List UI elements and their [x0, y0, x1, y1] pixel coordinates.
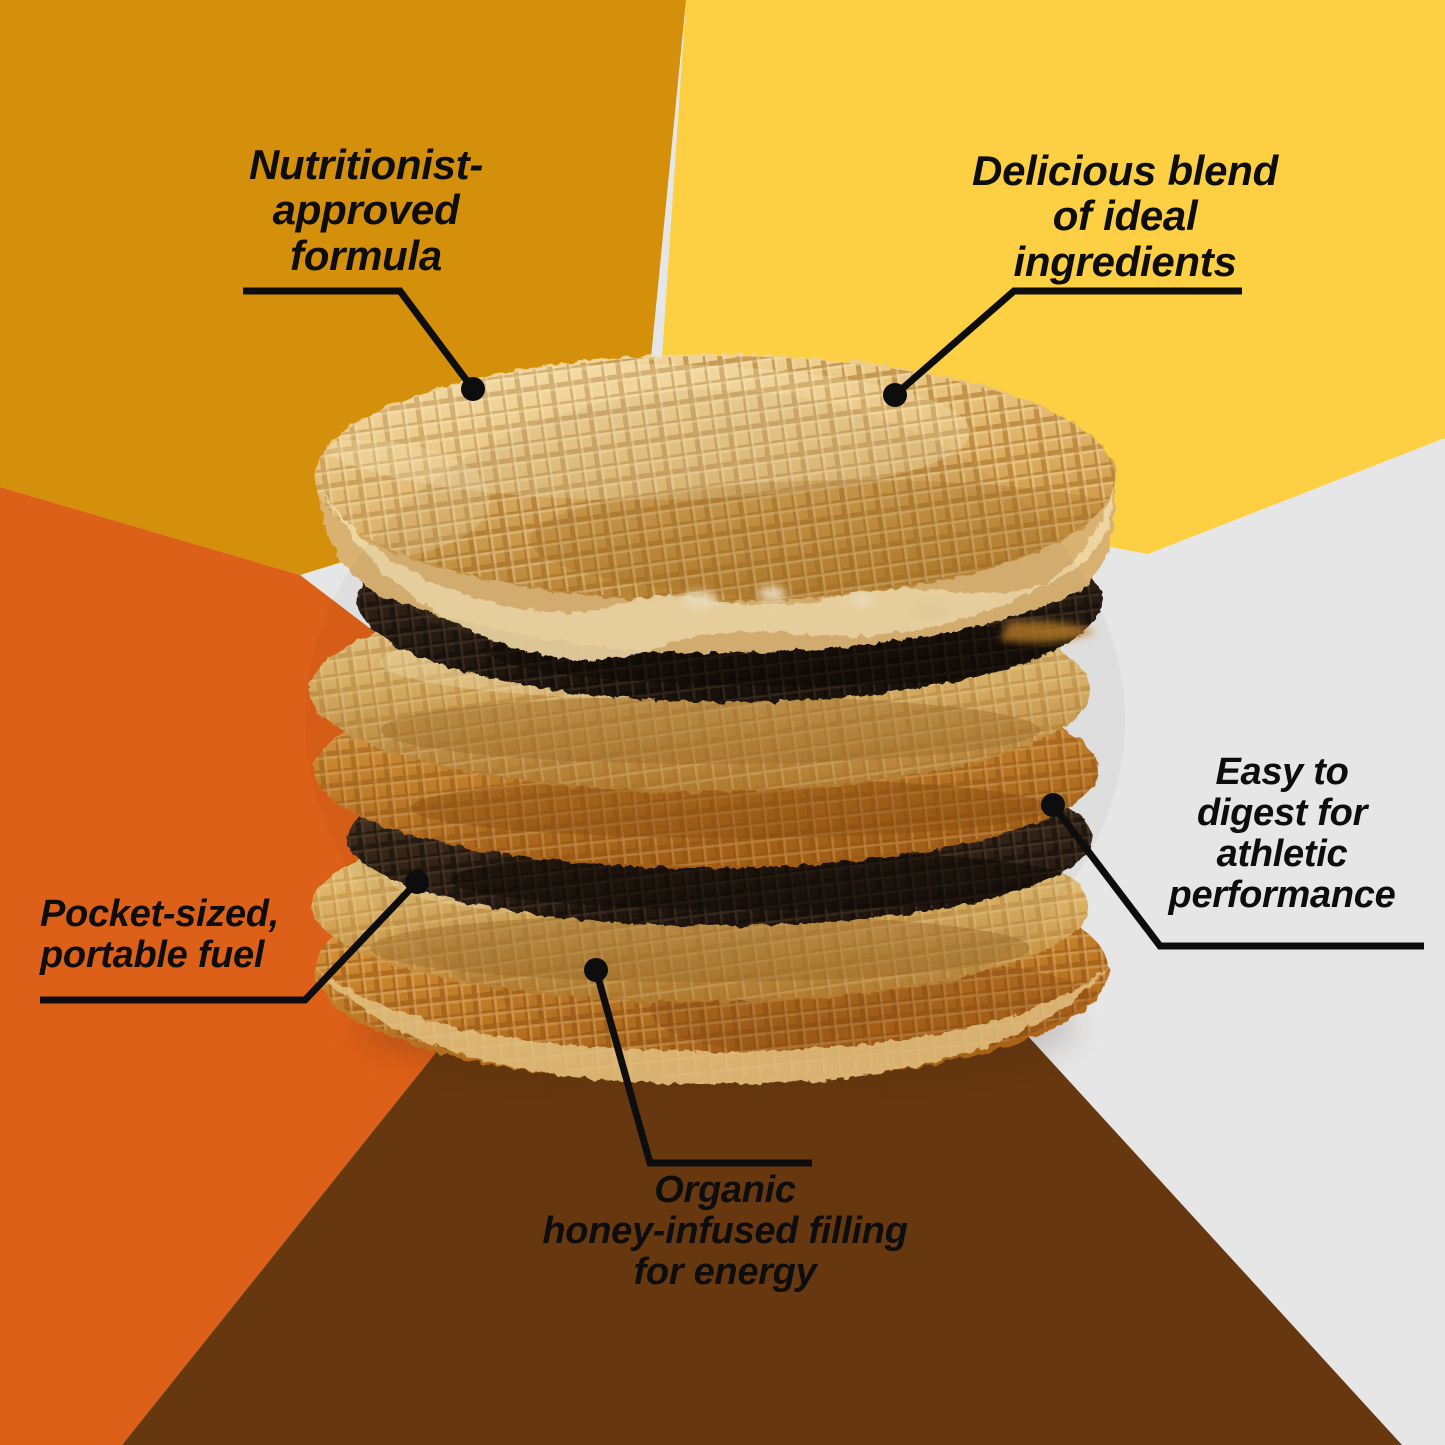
leader-organic [584, 958, 812, 1163]
callout-label-delicious: Delicious blend of ideal ingredients [960, 148, 1290, 284]
callout-label-easy-to-digest: Easy to digest for athletic performance [1132, 752, 1432, 916]
callout-label-nutritionist: Nutritionist- approved formula [196, 142, 536, 278]
callout-label-organic-honey: Organic honey-infused filling for energy [500, 1170, 950, 1293]
leader-nutritionist [243, 291, 485, 401]
product-infographic: Nutritionist- approved formula Delicious… [0, 0, 1445, 1445]
callout-label-pocket-sized: Pocket-sized, portable fuel [40, 894, 340, 976]
leader-delicious [883, 291, 1242, 407]
